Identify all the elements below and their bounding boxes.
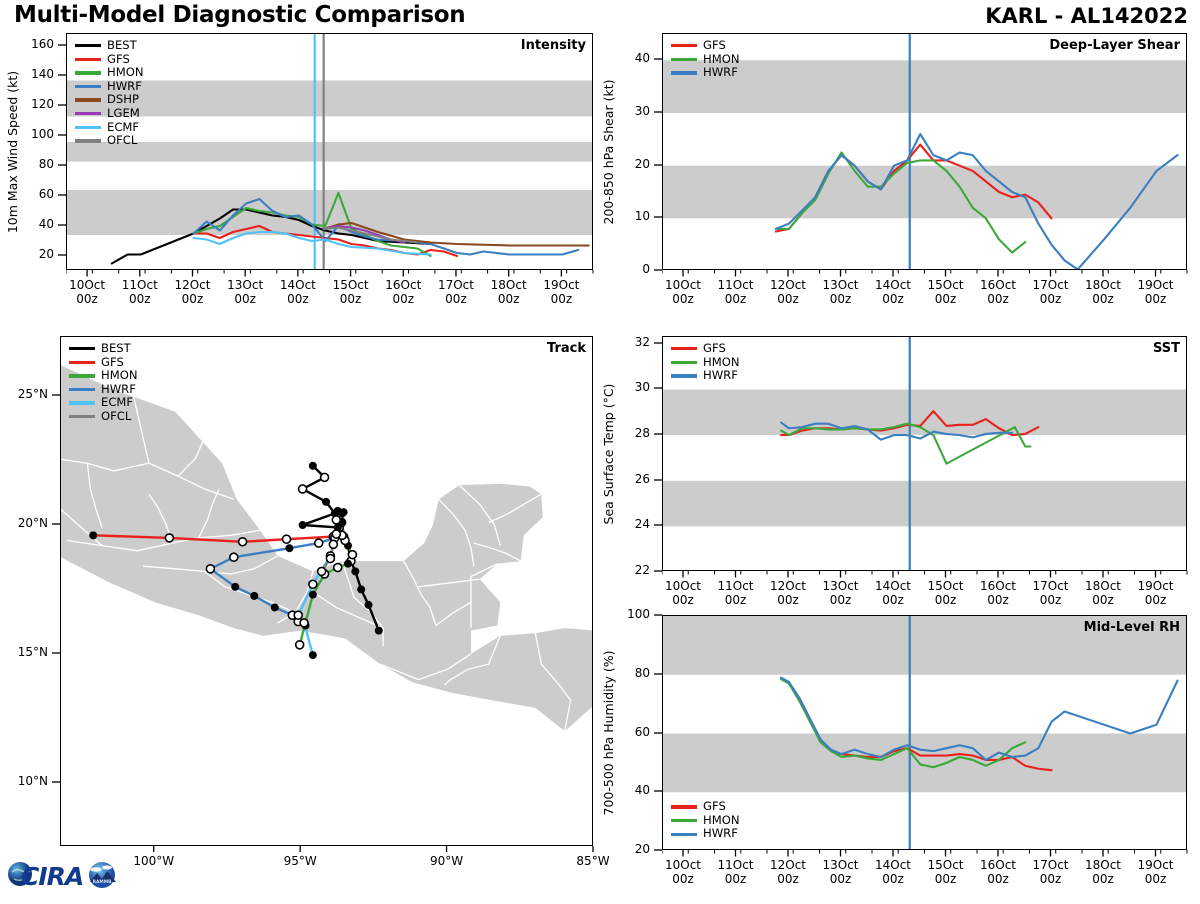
legend-swatch-hwrf — [75, 85, 101, 88]
sst-legend: GFSHMONHWRF — [671, 342, 740, 383]
legend-item-lgem: LGEM — [75, 107, 144, 121]
track-ytick: 15°N — [0, 645, 48, 659]
rh-xtick: 13Oct 00z — [813, 858, 869, 886]
track-legend-label-ecmf: ECMF — [101, 397, 133, 409]
shear-xtick: 11Oct 00z — [708, 278, 764, 306]
track-ytick: 25°N — [0, 387, 48, 401]
track-legend-item-hmon: HMON — [69, 369, 138, 383]
intensity-xtick: 11Oct 00z — [112, 278, 168, 306]
legend-label-hmon: HMON — [703, 54, 740, 66]
legend-label-hwrf: HWRF — [703, 370, 738, 382]
intensity-xtick: 15Oct 00z — [323, 278, 379, 306]
legend-item-hwrf: HWRF — [671, 827, 740, 841]
shear-xtick: 14Oct 00z — [865, 278, 921, 306]
legend-item-hmon: HMON — [671, 814, 740, 828]
legend-swatch-hmon — [75, 71, 101, 74]
legend-swatch-hwrf — [671, 374, 697, 377]
rh-panel-title: Mid-Level RH — [1084, 620, 1180, 635]
track-legend-label-hwrf: HWRF — [101, 384, 136, 396]
rh-xtick: 14Oct 00z — [865, 858, 921, 886]
intensity-xtick: 12Oct 00z — [164, 278, 220, 306]
panel-shear: Deep-Layer ShearGFSHMONHWRF10Oct 00z11Oc… — [600, 17, 1200, 324]
legend-item-hmon: HMON — [75, 66, 144, 80]
legend-item-gfs: GFS — [75, 53, 144, 67]
shear-xtick: 19Oct 00z — [1128, 278, 1184, 306]
legend-label-hmon: HMON — [107, 67, 144, 79]
track-legend-swatch-gfs — [69, 361, 95, 364]
track-legend-item-hwrf: HWRF — [69, 383, 138, 397]
rh-plot-frame: Mid-Level RHGFSHMONHWRF — [662, 615, 1187, 850]
legend-swatch-ofcl — [75, 139, 101, 142]
legend-item-best: BEST — [75, 39, 144, 53]
intensity-ytick: 20 — [4, 247, 54, 261]
rh-xtick: 12Oct 00z — [760, 858, 816, 886]
sst-plot-frame: SSTGFSHMONHWRF — [662, 336, 1187, 571]
panel-sst: SSTGFSHMONHWRF10Oct 00z11Oct 00z12Oct 00… — [600, 320, 1200, 625]
track-panel-title: Track — [547, 341, 586, 356]
legend-swatch-gfs — [671, 805, 697, 808]
legend-label-dshp: DSHP — [107, 94, 139, 106]
legend-label-gfs: GFS — [703, 343, 726, 355]
track-legend: BESTGFSHMONHWRFECMFOFCL — [69, 342, 138, 424]
svg-text:RAMMB: RAMMB — [93, 879, 113, 885]
intensity-xtick: 19Oct 00z — [533, 278, 589, 306]
rh-xtick: 17Oct 00z — [1023, 858, 1079, 886]
track-xtick: 85°W — [563, 854, 623, 868]
shear-xtick: 15Oct 00z — [918, 278, 974, 306]
legend-label-hmon: HMON — [703, 357, 740, 369]
panel-track: TrackBESTGFSHMONHWRFECMFOFCL100°W95°W90°… — [0, 322, 613, 892]
shear-y-axis-label: 200-850 hPa Shear (kt) — [601, 79, 616, 224]
track-ytick: 10°N — [0, 774, 48, 788]
legend-item-ecmf: ECMF — [75, 121, 144, 135]
rh-xtick: 10Oct 00z — [655, 858, 711, 886]
legend-item-gfs: GFS — [671, 800, 740, 814]
legend-item-gfs: GFS — [671, 342, 740, 356]
legend-label-gfs: GFS — [107, 54, 130, 66]
shear-xtick: 13Oct 00z — [813, 278, 869, 306]
intensity-ytick: 160 — [4, 37, 54, 51]
cira-logo: CIRA RAMMB — [4, 852, 124, 896]
legend-swatch-gfs — [671, 347, 697, 350]
shear-xtick: 18Oct 00z — [1075, 278, 1131, 306]
intensity-xtick: 14Oct 00z — [270, 278, 326, 306]
legend-label-gfs: GFS — [703, 40, 726, 52]
legend-label-hwrf: HWRF — [703, 828, 738, 840]
intensity-xtick: 13Oct 00z — [217, 278, 273, 306]
legend-swatch-hmon — [671, 819, 697, 822]
rh-xtick: 16Oct 00z — [970, 858, 1026, 886]
svg-text:CIRA: CIRA — [21, 862, 83, 891]
shear-ytick: 0 — [600, 262, 650, 276]
panel-rh: Mid-Level RHGFSHMONHWRF10Oct 00z11Oct 00… — [600, 599, 1200, 904]
intensity-xtick: 18Oct 00z — [481, 278, 537, 306]
track-legend-item-ecmf: ECMF — [69, 396, 138, 410]
legend-label-hmon: HMON — [703, 815, 740, 827]
track-xtick: 95°W — [270, 854, 330, 868]
track-legend-label-hmon: HMON — [101, 370, 138, 382]
track-ytick: 20°N — [0, 516, 48, 530]
intensity-xtick: 16Oct 00z — [375, 278, 431, 306]
track-legend-item-gfs: GFS — [69, 356, 138, 370]
shear-xtick: 10Oct 00z — [655, 278, 711, 306]
legend-label-lgem: LGEM — [107, 108, 140, 120]
track-legend-item-ofcl: OFCL — [69, 410, 138, 424]
legend-label-best: BEST — [107, 40, 137, 52]
shear-panel-title: Deep-Layer Shear — [1049, 38, 1180, 53]
rh-legend: GFSHMONHWRF — [671, 800, 740, 841]
shear-legend: GFSHMONHWRF — [671, 39, 740, 80]
rh-xtick: 11Oct 00z — [708, 858, 764, 886]
sst-panel-title: SST — [1153, 341, 1180, 356]
legend-item-ofcl: OFCL — [75, 134, 144, 148]
track-xtick: 100°W — [124, 854, 184, 868]
legend-swatch-hmon — [671, 58, 697, 61]
legend-item-hmon: HMON — [671, 53, 740, 67]
shear-ytick: 40 — [600, 51, 650, 65]
shear-xtick: 12Oct 00z — [760, 278, 816, 306]
legend-swatch-dshp — [75, 98, 101, 101]
track-legend-label-ofcl: OFCL — [101, 411, 131, 423]
legend-swatch-hwrf — [671, 71, 697, 74]
legend-label-hwrf: HWRF — [107, 81, 142, 93]
legend-swatch-gfs — [671, 44, 697, 47]
legend-item-dshp: DSHP — [75, 93, 144, 107]
legend-item-gfs: GFS — [671, 39, 740, 53]
intensity-y-axis-label: 10m Max Wind Speed (kt) — [5, 70, 20, 232]
track-legend-item-best: BEST — [69, 342, 138, 356]
intensity-plot-frame: IntensityBESTGFSHMONHWRFDSHPLGEMECMFOFCL — [66, 33, 593, 270]
track-legend-swatch-ecmf — [69, 401, 95, 404]
rh-xtick: 18Oct 00z — [1075, 858, 1131, 886]
legend-label-ofcl: OFCL — [107, 135, 137, 147]
legend-swatch-hmon — [671, 361, 697, 364]
track-legend-swatch-hwrf — [69, 388, 95, 391]
legend-item-hwrf: HWRF — [75, 80, 144, 94]
panel-intensity: IntensityBESTGFSHMONHWRFDSHPLGEMECMFOFCL… — [4, 17, 611, 324]
track-legend-swatch-hmon — [69, 374, 95, 377]
legend-swatch-best — [75, 44, 101, 47]
legend-item-hwrf: HWRF — [671, 66, 740, 80]
legend-swatch-gfs — [75, 58, 101, 61]
legend-item-hwrf: HWRF — [671, 369, 740, 383]
track-plot-frame: TrackBESTGFSHMONHWRFECMFOFCL — [60, 336, 593, 846]
legend-swatch-ecmf — [75, 126, 101, 129]
rh-xtick: 19Oct 00z — [1128, 858, 1184, 886]
track-legend-swatch-best — [69, 347, 95, 350]
shear-xtick: 17Oct 00z — [1023, 278, 1079, 306]
rh-xtick: 15Oct 00z — [918, 858, 974, 886]
track-legend-swatch-ofcl — [69, 415, 95, 418]
intensity-xtick: 10Oct 00z — [59, 278, 115, 306]
legend-label-ecmf: ECMF — [107, 122, 139, 134]
intensity-panel-title: Intensity — [521, 38, 586, 53]
legend-swatch-lgem — [75, 112, 101, 115]
shear-xtick: 16Oct 00z — [970, 278, 1026, 306]
track-legend-label-best: BEST — [101, 343, 131, 355]
legend-label-hwrf: HWRF — [703, 67, 738, 79]
intensity-legend: BESTGFSHMONHWRFDSHPLGEMECMFOFCL — [75, 39, 144, 148]
legend-swatch-hwrf — [671, 833, 697, 836]
shear-plot-frame: Deep-Layer ShearGFSHMONHWRF — [662, 33, 1187, 270]
track-legend-label-gfs: GFS — [101, 357, 124, 369]
track-xtick: 90°W — [417, 854, 477, 868]
legend-label-gfs: GFS — [703, 801, 726, 813]
intensity-xtick: 17Oct 00z — [428, 278, 484, 306]
legend-item-hmon: HMON — [671, 356, 740, 370]
